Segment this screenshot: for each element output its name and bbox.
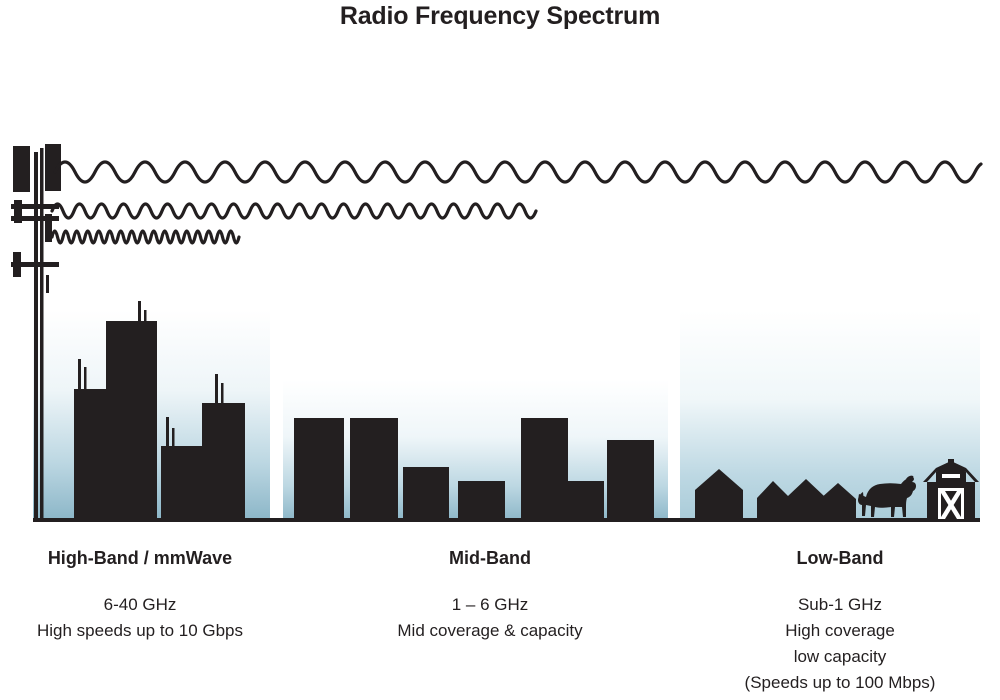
midrise-building — [294, 418, 344, 520]
skyscraper — [161, 446, 202, 520]
midrise-building — [350, 418, 398, 520]
band-desc-line: High coverage — [700, 618, 980, 644]
band-desc-line: Mid coverage & capacity — [350, 618, 630, 644]
antenna-panel — [14, 200, 22, 223]
band-desc-line: 6-40 GHz — [0, 592, 280, 618]
antenna-panel — [13, 146, 30, 192]
band-desc-low-band: Sub-1 GHz High coverage low capacity (Sp… — [700, 592, 980, 696]
skyscraper — [202, 403, 245, 520]
infographic-stage: Radio Frequency Spectrum — [0, 0, 1000, 700]
band-desc-line: High speeds up to 10 Gbps — [0, 618, 280, 644]
mid-frequency-wave — [52, 204, 536, 218]
skyscraper — [106, 321, 157, 520]
barn-window — [942, 474, 960, 478]
antenna-spire — [166, 417, 169, 449]
high-frequency-wave — [52, 231, 239, 243]
skyscraper — [74, 389, 106, 520]
band-desc-line: Sub-1 GHz — [700, 592, 980, 618]
antenna-spire — [84, 367, 87, 391]
midrise-building — [607, 440, 654, 520]
band-desc-high-band: 6-40 GHz High speeds up to 10 Gbps — [0, 592, 280, 644]
antenna-spire — [215, 374, 218, 406]
band-desc-mid-band: 1 – 6 GHz Mid coverage & capacity — [350, 592, 630, 644]
low-frequency-wave — [55, 162, 981, 182]
midrise-building — [403, 467, 449, 520]
band-label-low-band: Low-Band — [700, 548, 980, 569]
band-desc-line: (Speeds up to 100 Mbps) — [700, 670, 980, 696]
band-desc-line: 1 – 6 GHz — [350, 592, 630, 618]
band-desc-line: low capacity — [700, 644, 980, 670]
band-label-mid-band: Mid-Band — [350, 548, 630, 569]
midrise-building — [568, 481, 604, 520]
midrise-building — [458, 481, 505, 520]
antenna-panel — [13, 252, 21, 277]
midrise-building — [521, 418, 568, 520]
antenna-spire — [78, 359, 81, 391]
band-label-high-band: High-Band / mmWave — [0, 548, 280, 569]
